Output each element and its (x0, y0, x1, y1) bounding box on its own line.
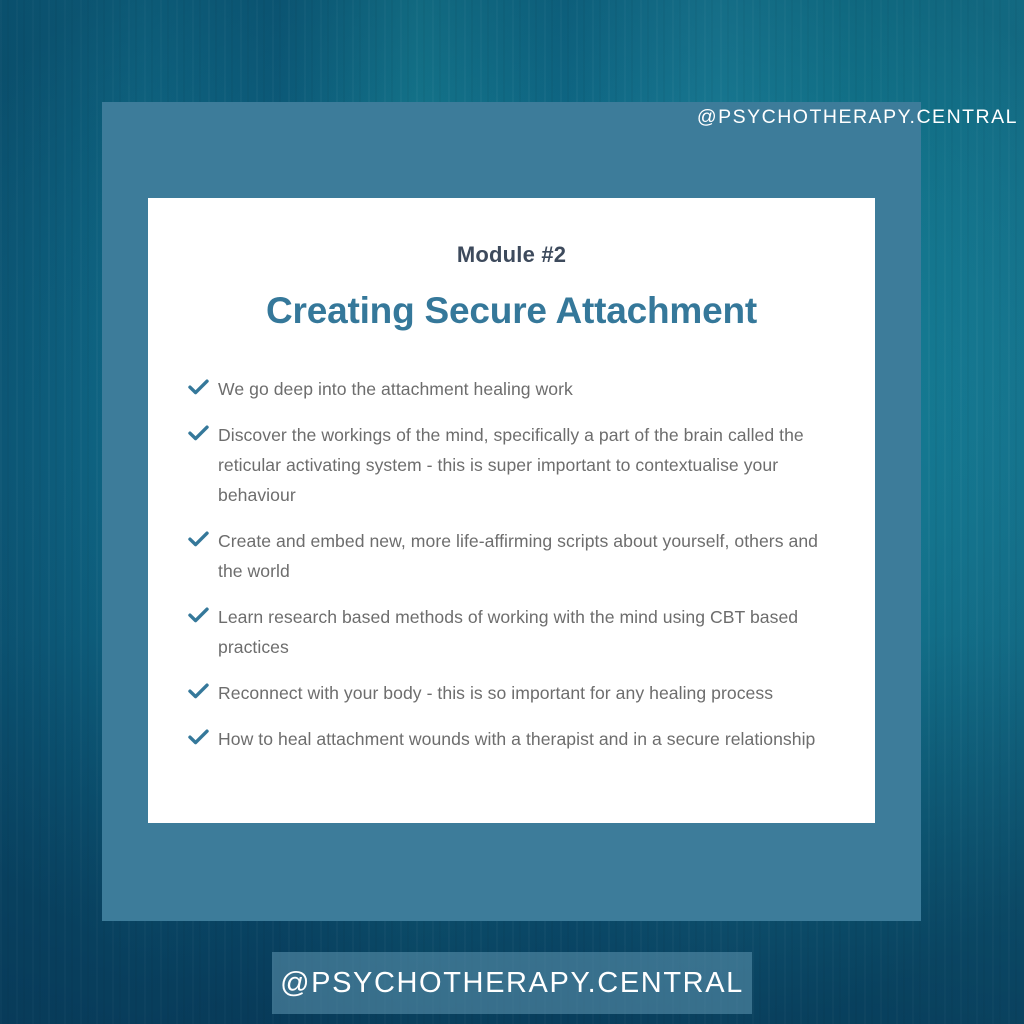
list-item-label: Learn research based methods of working … (218, 602, 833, 662)
list-item: Create and embed new, more life-affirmin… (188, 526, 833, 586)
list-item: We go deep into the attachment healing w… (188, 374, 833, 404)
check-icon (188, 678, 218, 700)
content-card: Module #2 Creating Secure Attachment We … (148, 198, 875, 823)
list-item: Discover the workings of the mind, speci… (188, 420, 833, 510)
list-item: Reconnect with your body - this is so im… (188, 678, 833, 708)
brand-handle-top: @PSYCHOTHERAPY.CENTRAL (697, 101, 1018, 133)
check-icon (188, 602, 218, 624)
check-icon (188, 374, 218, 396)
check-icon (188, 420, 218, 442)
list-item: Learn research based methods of working … (188, 602, 833, 662)
list-item-label: Create and embed new, more life-affirmin… (218, 526, 833, 586)
list-item: How to heal attachment wounds with a the… (188, 724, 833, 754)
list-item-label: We go deep into the attachment healing w… (218, 374, 833, 404)
check-icon (188, 526, 218, 548)
list-item-label: Reconnect with your body - this is so im… (218, 678, 833, 708)
bullet-list: We go deep into the attachment healing w… (148, 374, 875, 754)
brand-handle-bottom: @PSYCHOTHERAPY.CENTRAL (272, 952, 752, 1014)
check-icon (188, 724, 218, 746)
page-title: Creating Secure Attachment (148, 290, 875, 332)
list-item-label: How to heal attachment wounds with a the… (218, 724, 833, 754)
slide-canvas: @PSYCHOTHERAPY.CENTRAL Module #2 Creatin… (0, 0, 1024, 1024)
list-item-label: Discover the workings of the mind, speci… (218, 420, 833, 510)
module-label: Module #2 (148, 242, 875, 268)
